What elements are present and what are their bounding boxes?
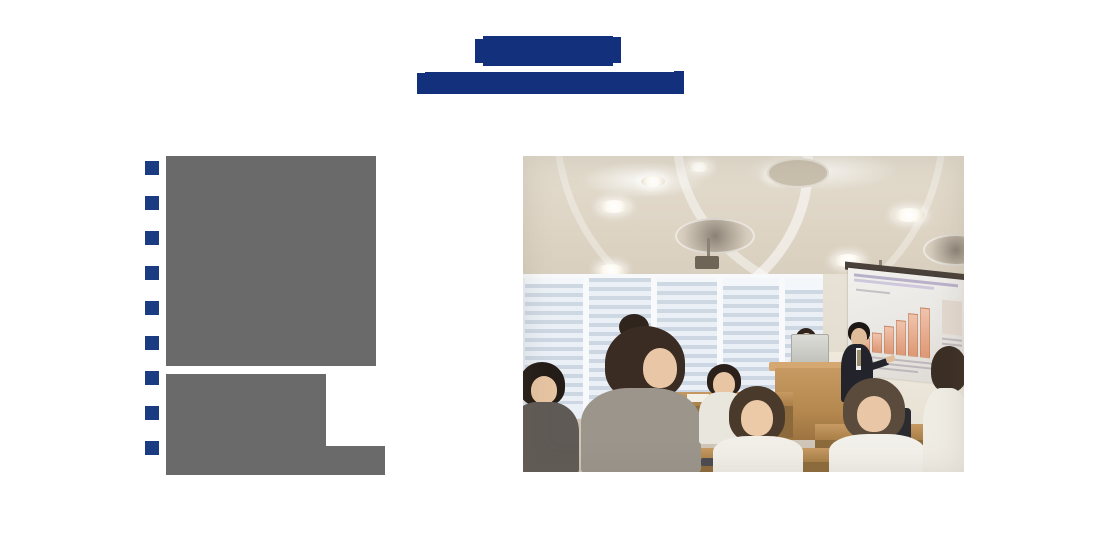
square-bullet-icon	[145, 161, 159, 175]
screen-chart-bar	[896, 320, 906, 356]
seminar-photo	[523, 156, 964, 472]
screen-chart-bar	[920, 307, 930, 358]
square-bullet-icon	[145, 406, 159, 420]
title-redaction-bar	[483, 36, 613, 66]
page-subtitle	[0, 72, 1100, 99]
ceiling-speaker-icon	[675, 218, 755, 254]
square-bullet-icon	[145, 336, 159, 350]
projector-icon	[695, 256, 719, 269]
downlight-icon	[688, 162, 710, 172]
screen-chart-bar	[884, 326, 894, 355]
square-bullet-icon	[145, 441, 159, 455]
square-bullet-icon	[145, 196, 159, 210]
square-bullet-icon	[145, 266, 159, 280]
square-bullet-icon	[145, 231, 159, 245]
window-mullion	[583, 274, 589, 419]
text-redaction-block	[166, 156, 376, 366]
downlight-icon	[893, 208, 925, 222]
ceiling-vent-icon	[767, 158, 829, 188]
downlight-icon	[641, 176, 665, 187]
page-title	[0, 36, 1100, 66]
presentation-slide	[0, 0, 1100, 548]
text-redaction-block	[166, 446, 385, 475]
square-bullet-icon	[145, 301, 159, 315]
slide-heading	[0, 36, 1100, 99]
subtitle-redaction-bar	[425, 72, 675, 94]
square-bullet-icon	[145, 371, 159, 385]
screen-chart-bar	[908, 313, 918, 357]
downlight-icon	[599, 200, 629, 213]
screen-chart-bar	[872, 332, 882, 353]
